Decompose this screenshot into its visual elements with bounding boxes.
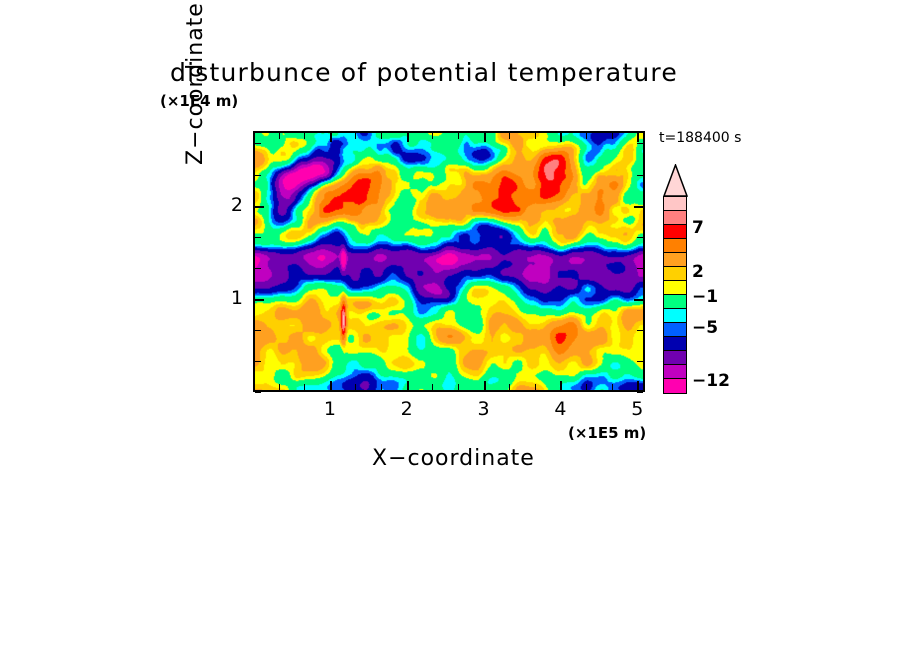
x-tick-top bbox=[509, 133, 510, 139]
x-tick-top bbox=[381, 133, 382, 139]
x-tick-top bbox=[535, 133, 536, 139]
colorbar-arrow-icon bbox=[663, 164, 688, 197]
x-tick-top bbox=[458, 133, 459, 139]
x-tick bbox=[484, 381, 486, 390]
y-tick bbox=[255, 268, 261, 269]
x-tick-top bbox=[304, 133, 305, 139]
y-tick bbox=[255, 206, 264, 208]
y-tick bbox=[255, 299, 264, 301]
x-tick bbox=[612, 384, 613, 390]
y-tick-label: 1 bbox=[213, 287, 243, 309]
colorbar-tick-label: −1 bbox=[692, 287, 718, 307]
y-axis-title: Z−coordinate bbox=[183, 0, 208, 165]
x-tick bbox=[432, 384, 433, 390]
colorbar-tick-label: 7 bbox=[692, 218, 704, 238]
y-tick-right bbox=[637, 392, 643, 393]
x-tick bbox=[458, 384, 459, 390]
y-tick-right bbox=[637, 268, 643, 269]
contour-field bbox=[255, 133, 643, 390]
figure-canvas: disturbunce of potential temperature (×1… bbox=[0, 0, 904, 654]
timestamp-annotation: t=188400 s bbox=[659, 130, 741, 146]
x-tick-label: 3 bbox=[469, 398, 499, 420]
x-tick bbox=[586, 384, 587, 390]
page-title: disturbunce of potential temperature bbox=[170, 58, 750, 87]
colorbar-tick-label: −5 bbox=[692, 318, 718, 338]
y-tick-right bbox=[634, 206, 643, 208]
x-tick bbox=[381, 384, 382, 390]
y-tick-right bbox=[637, 237, 643, 238]
x-tick-top bbox=[560, 133, 562, 142]
contour-plot[interactable] bbox=[253, 131, 645, 392]
x-tick bbox=[509, 384, 510, 390]
colorbar-tick-label: 2 bbox=[692, 262, 704, 282]
x-tick-label: 1 bbox=[315, 398, 345, 420]
y-tick bbox=[255, 361, 261, 362]
x-tick-label: 4 bbox=[545, 398, 575, 420]
y-tick-right bbox=[634, 299, 643, 301]
x-tick bbox=[279, 384, 280, 390]
x-tick bbox=[535, 384, 536, 390]
x-tick-label: 5 bbox=[622, 398, 652, 420]
y-tick-right bbox=[637, 361, 643, 362]
x-tick bbox=[253, 384, 254, 390]
y-tick-right bbox=[637, 143, 643, 144]
x-tick-top bbox=[253, 133, 254, 139]
x-tick bbox=[560, 381, 562, 390]
x-tick bbox=[637, 381, 639, 390]
x-tick bbox=[407, 381, 409, 390]
x-tick bbox=[355, 384, 356, 390]
x-tick-top bbox=[586, 133, 587, 139]
x-axis-title: X−coordinate bbox=[372, 446, 535, 471]
x-unit-label: (×1E5 m) bbox=[568, 424, 646, 442]
y-tick bbox=[255, 175, 261, 176]
x-tick-top bbox=[330, 133, 332, 142]
x-tick-top bbox=[637, 133, 639, 142]
y-tick bbox=[255, 237, 261, 238]
x-tick-top bbox=[484, 133, 486, 142]
x-tick-top bbox=[279, 133, 280, 139]
y-tick-right bbox=[637, 330, 643, 331]
x-tick-top bbox=[432, 133, 433, 139]
y-tick bbox=[255, 330, 261, 331]
x-tick-label: 2 bbox=[392, 398, 422, 420]
colorbar-tick-label: −12 bbox=[692, 371, 730, 391]
y-tick-right bbox=[637, 175, 643, 176]
x-tick bbox=[330, 381, 332, 390]
x-tick bbox=[304, 384, 305, 390]
y-tick bbox=[255, 143, 261, 144]
x-tick-top bbox=[407, 133, 409, 142]
colorbar-segment bbox=[663, 378, 687, 394]
x-tick-top bbox=[355, 133, 356, 139]
x-tick-top bbox=[612, 133, 613, 139]
y-tick-label: 2 bbox=[213, 194, 243, 216]
y-tick bbox=[255, 392, 261, 393]
